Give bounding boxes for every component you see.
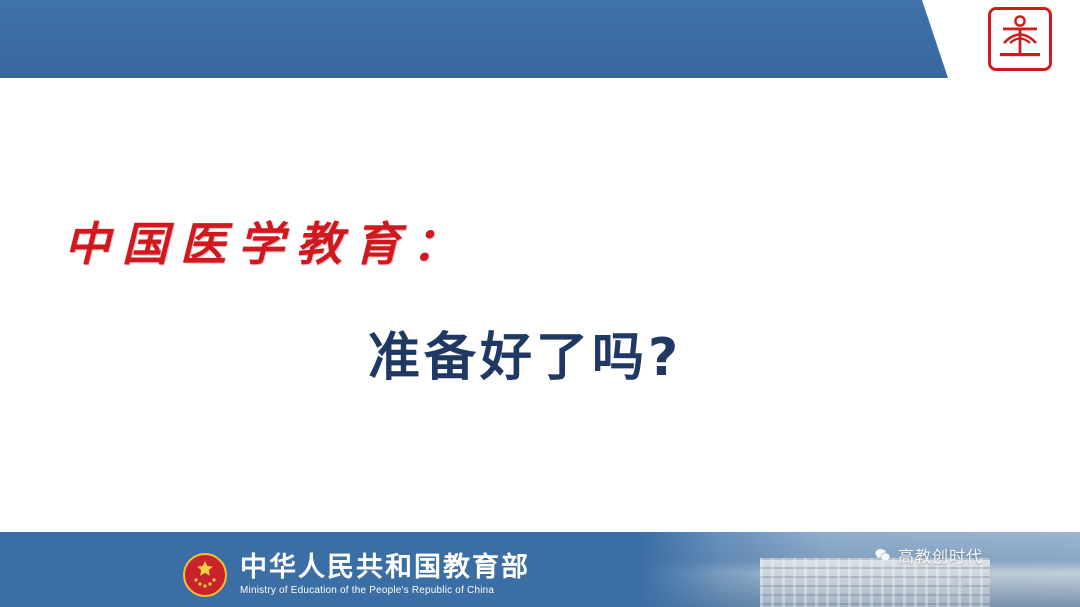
header-band-fill [0,0,1080,78]
page-subtitle: 准备好了吗? [368,315,682,390]
national-emblem [182,552,228,598]
watermark-label: 高教创时代 [898,543,983,567]
footer-organization: 中华人民共和国教育部 Ministry of Education of the … [240,553,530,598]
wechat-icon [874,547,891,564]
watermark: 高教创时代 [874,543,983,567]
slide-header-band [0,0,1080,78]
page-title: 中国医学教育： [64,208,470,274]
institution-logo-icon [991,10,1049,68]
slide-body: 中国医学教育： 准备好了吗? [0,78,1080,532]
footer-org-name-en: Ministry of Education of the People's Re… [240,584,530,598]
national-emblem-icon [182,552,228,598]
page-number: 32 [952,575,968,591]
footer-org-name-cn: 中华人民共和国教育部 [240,553,530,583]
footer-building-photo [640,532,1080,607]
institution-logo [988,7,1052,71]
